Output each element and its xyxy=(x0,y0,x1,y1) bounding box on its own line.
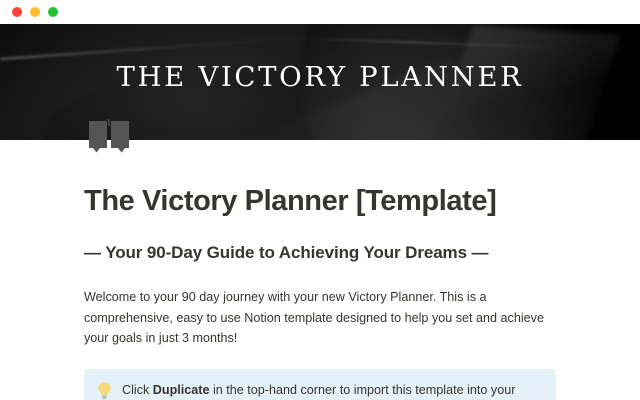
intro-paragraph: Welcome to your 90 day journey with your… xyxy=(84,263,556,349)
minimize-window-button[interactable] xyxy=(30,7,40,17)
traffic-light-buttons xyxy=(12,7,58,17)
light-bulb-icon xyxy=(96,381,113,400)
callout-text-before: Click xyxy=(122,383,153,397)
page-title: The Victory Planner [Template] xyxy=(84,140,556,218)
banner-title: THE VICTORY PLANNER xyxy=(0,62,640,93)
page-content: The Victory Planner [Template] — Your 90… xyxy=(0,140,640,400)
close-window-button[interactable] xyxy=(12,7,22,17)
window-titlebar xyxy=(0,0,640,24)
app-window: THE VICTORY PLANNER The Victory Planner … xyxy=(0,0,640,400)
maximize-window-button[interactable] xyxy=(48,7,58,17)
callout-text: Click Duplicate in the top-hand corner t… xyxy=(122,380,542,400)
callout-block: Click Duplicate in the top-hand corner t… xyxy=(84,369,556,400)
page-subtitle: — Your 90-Day Guide to Achieving Your Dr… xyxy=(84,218,556,263)
open-book-icon[interactable] xyxy=(86,118,134,158)
callout-bold-word: Duplicate xyxy=(153,383,210,397)
